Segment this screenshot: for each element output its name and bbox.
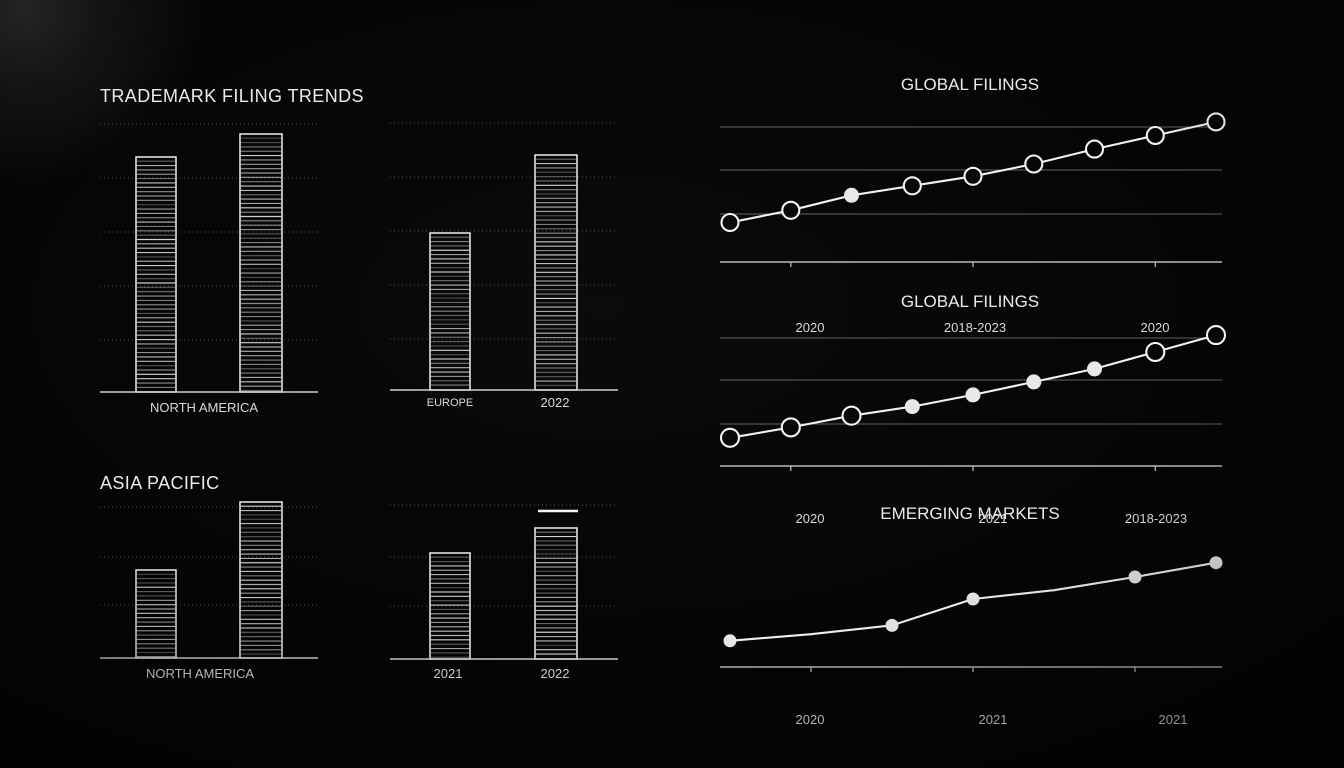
xtick-north-america: NORTH AMERICA <box>104 400 304 415</box>
panel-bars-top-right: EUROPE 2022 <box>390 86 630 406</box>
panel-bars-bottom-right: 2021 2022 <box>390 473 630 673</box>
bar-2022 <box>535 528 577 659</box>
xtick-europe: EUROPE <box>398 397 502 409</box>
bar-chart-bottom-right <box>390 473 630 673</box>
gridlines <box>390 123 618 339</box>
bar-chart-bottom-left <box>100 473 330 673</box>
bar-second <box>240 134 282 392</box>
xtick-2021: 2021 <box>396 666 500 681</box>
xtick-label-1: 2021 <box>923 712 1063 727</box>
series-markers <box>721 326 1225 447</box>
bar-chart-top-right <box>390 86 630 406</box>
line-chart-top <box>718 97 1228 277</box>
line-chart-bottom <box>718 526 1228 681</box>
panel-bars-top-left: TRADEMARK FILING TRENDS NORTH AMERICA <box>100 86 330 406</box>
panel-bars-bottom-left: ASIA PACIFIC NORTH AMERICA <box>100 473 330 673</box>
xtick-2022: 2022 <box>503 395 607 410</box>
bar-north-america <box>136 157 176 392</box>
xtick-2022: 2022 <box>503 666 607 681</box>
bar-europe <box>430 233 470 390</box>
gridlines <box>100 124 318 340</box>
xtick-north-america: NORTH AMERICA <box>100 666 300 681</box>
panel-title-global-filings-middle: GLOBAL FILINGS <box>718 292 1222 312</box>
series-line <box>730 335 1216 438</box>
line-chart-middle <box>718 314 1228 479</box>
bar-second <box>240 502 282 658</box>
xtick-label-2: 2021 <box>1103 712 1243 727</box>
gridlines <box>100 507 318 605</box>
panel-title-trademark-filing-trends: TRADEMARK FILING TRENDS <box>100 86 364 107</box>
dashboard-canvas: TRADEMARK FILING TRENDS NORTH AMERICA <box>0 0 1344 768</box>
panel-title-emerging-markets: EMERGING MARKETS <box>718 504 1222 524</box>
bar-chart-top-left <box>100 86 330 406</box>
bar-north-america <box>136 570 176 658</box>
bar-2022 <box>535 155 577 390</box>
panel-title-global-filings-top: GLOBAL FILINGS <box>718 75 1222 95</box>
gridlines <box>390 505 618 606</box>
series-markers <box>724 556 1223 647</box>
xtick-label-0: 2020 <box>740 712 880 727</box>
panel-title-asia-pacific: ASIA PACIFIC <box>100 473 220 494</box>
series-markers <box>722 113 1225 231</box>
